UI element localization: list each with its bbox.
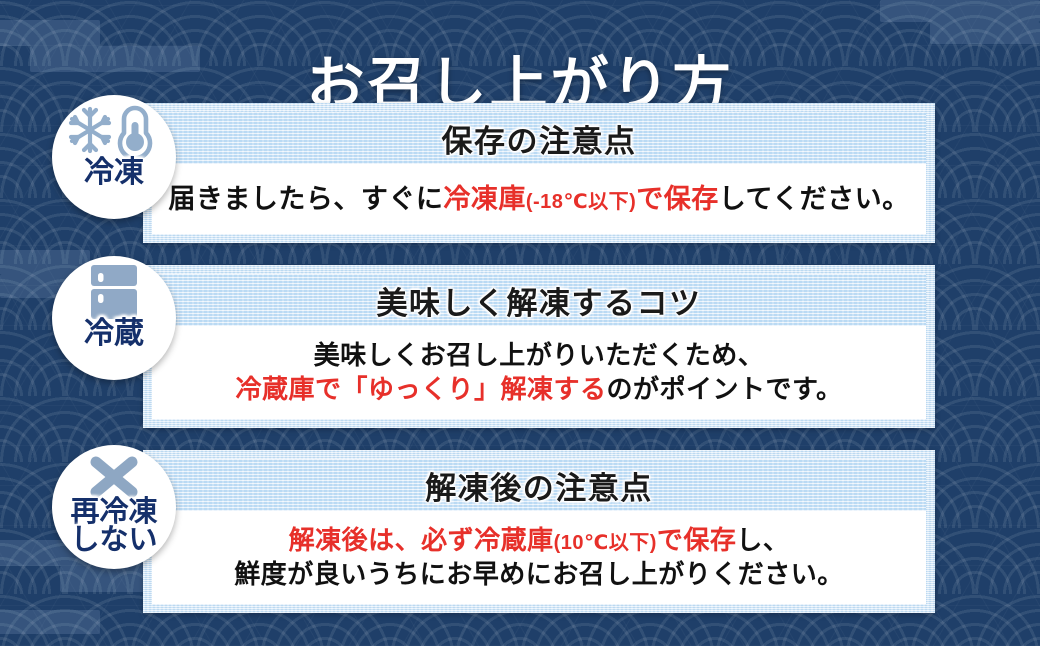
text-segment-temperature: (-18℃以下) [526, 191, 636, 213]
card-heading: 解凍後の注意点 [425, 463, 653, 508]
text-segment-highlight: 冷蔵庫で「ゆっくり」解凍する [236, 374, 607, 404]
card-after-thawing-notice: 解凍後の注意点 解凍後は、必ず冷蔵庫(10℃以下)で保存し、 鮮度が良いうちにお… [143, 450, 935, 613]
card-heading-bar: 保存の注意点 [152, 112, 926, 164]
badge-label: 冷蔵 [84, 320, 144, 349]
text-segment: 届きましたら、すぐに [168, 184, 443, 214]
snowflake-thermometer-icon [68, 103, 160, 159]
badge-label: 再冷凍 しない [70, 499, 157, 554]
text-segment-temperature: (10℃以下) [554, 532, 657, 554]
text-segment: 鮮度が良いうちにお早めにお召し上がりください。 [234, 559, 844, 589]
badge-frozen: 冷凍 [52, 95, 176, 219]
card-body: 届きましたら、すぐに冷凍庫(-18℃以下)で保存してください。 [152, 164, 926, 234]
card-heading: 美味しく解凍するコツ [377, 278, 702, 323]
refrigerator-icon [87, 264, 141, 320]
text-segment: 美味しくお召し上がりいただくため、 [314, 340, 765, 370]
x-mark-icon [88, 455, 140, 499]
text-segment: し、 [736, 525, 789, 555]
badge-label-line2: しない [70, 527, 157, 555]
text-segment-highlight: で保存 [657, 525, 737, 555]
card-thawing-tips: 美味しく解凍するコツ 美味しくお召し上がりいただくため、 冷蔵庫で「ゆっくり」解… [143, 265, 935, 428]
text-segment: してください。 [719, 184, 910, 214]
text-segment-highlight: で [636, 184, 664, 214]
text-segment-highlight: 解凍後は、必ず冷蔵庫 [289, 525, 554, 555]
infographic-root: お召し上がり方 保存の注意点 届きましたら、すぐに冷凍庫(-18℃以下)で保存し… [0, 0, 1040, 646]
card-heading-bar: 解凍後の注意点 [152, 459, 926, 511]
badge-label: 冷凍 [84, 159, 144, 188]
card-line: 鮮度が良いうちにお早めにお召し上がりください。 [234, 558, 844, 591]
badge-no-refreeze: 再冷凍 しない [52, 445, 176, 569]
text-segment: のがポイントです。 [607, 374, 843, 404]
card-heading: 保存の注意点 [442, 116, 637, 161]
text-segment-highlight: 冷凍庫 [443, 184, 526, 214]
badge-label-line1: 再冷凍 [70, 499, 157, 527]
card-line: 解凍後は、必ず冷蔵庫(10℃以下)で保存し、 [289, 524, 790, 557]
card-storage-notice: 保存の注意点 届きましたら、すぐに冷凍庫(-18℃以下)で保存してください。 [143, 103, 935, 243]
card-body: 美味しくお召し上がりいただくため、 冷蔵庫で「ゆっくり」解凍するのがポイントです… [152, 326, 926, 419]
card-heading-bar: 美味しく解凍するコツ [152, 274, 926, 326]
card-line: 届きましたら、すぐに冷凍庫(-18℃以下)で保存してください。 [168, 182, 909, 217]
card-line: 冷蔵庫で「ゆっくり」解凍するのがポイントです。 [236, 373, 843, 406]
card-line: 美味しくお召し上がりいただくため、 [314, 339, 765, 372]
text-segment-highlight: 保存 [664, 184, 719, 214]
badge-refrigerated: 冷蔵 [52, 256, 176, 380]
card-body: 解凍後は、必ず冷蔵庫(10℃以下)で保存し、 鮮度が良いうちにお早めにお召し上が… [152, 511, 926, 604]
